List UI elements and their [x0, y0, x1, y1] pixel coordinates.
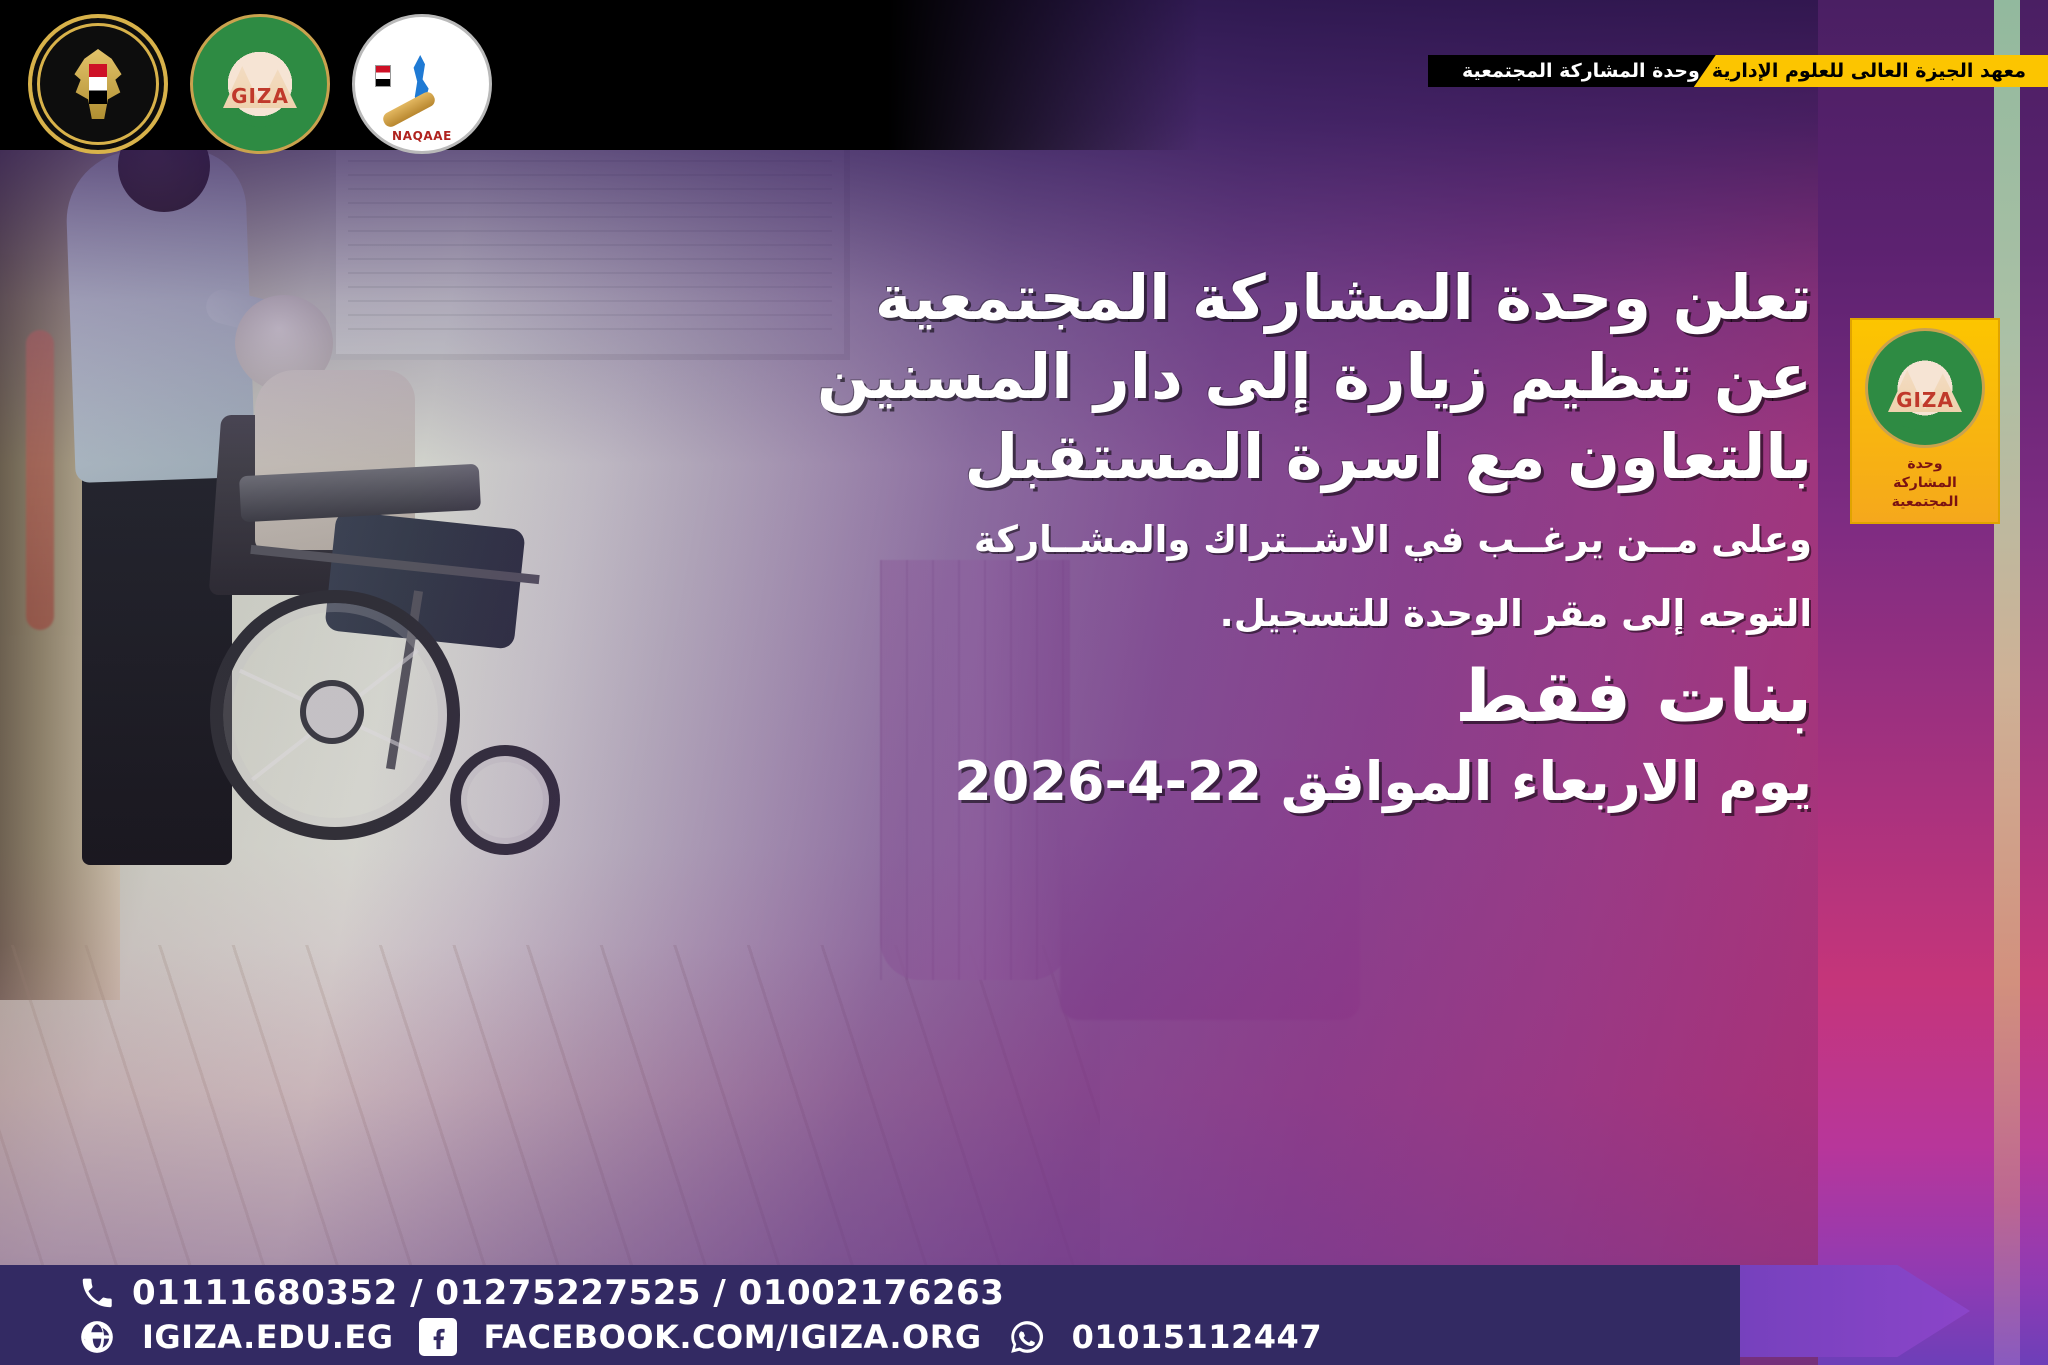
headline-line-3: بالتعاون مع اسرة المستقبل: [582, 417, 1812, 496]
phone-row: 01111680352 / 01275227525 / 01002176263: [0, 1274, 1740, 1312]
phone-numbers[interactable]: 01111680352 / 01275227525 / 01002176263: [132, 1276, 1004, 1310]
ministry-of-higher-education-and-scientific-research-seal: Ministry of Higher Education and Scienti…: [28, 14, 168, 154]
giza-higher-institute-seal: GIZA: [190, 14, 330, 154]
whatsapp-icon: [1008, 1318, 1046, 1356]
community-unit-badge: GIZA وحدة المشاركة المجتمعية: [1850, 318, 2000, 524]
diploma-scroll-icon: [381, 90, 437, 130]
website-link[interactable]: IGIZA.EDU.EG: [142, 1321, 393, 1353]
event-date-label: يوم الاربعاء الموافق 22-4-2026: [582, 747, 1812, 817]
accreditation-logos: Ministry of Higher Education and Scienti…: [28, 14, 492, 154]
open-book-icon: [1902, 418, 1948, 432]
body-line-2: التوجه إلى مقر الوحدة للتسجيل.: [582, 584, 1812, 644]
open-book-icon: [237, 114, 283, 128]
whatsapp-number[interactable]: 01015112447: [1072, 1321, 1322, 1353]
giza-higher-institute-seal: GIZA: [1865, 328, 1985, 448]
links-row: IGIZA.EDU.EG FACEBOOK.COM/IGIZA.ORG 0101…: [0, 1312, 1740, 1356]
phone-icon: [78, 1274, 116, 1312]
poster-canvas: Ministry of Higher Education and Scienti…: [0, 0, 2048, 1365]
badge-caption-line-1: وحدة: [1858, 455, 1992, 474]
institute-name-label: معهد الجيزة العالى للعلوم الإدارية: [1694, 55, 2048, 87]
pyramids-icon: GIZA: [1888, 364, 1962, 412]
body-line-1: وعلى مــن يرغــب في الاشــتراك والمشــار…: [582, 510, 1812, 570]
egypt-flag-icon: [89, 64, 107, 104]
pyramids-icon: GIZA: [223, 60, 297, 108]
facebook-icon[interactable]: [419, 1318, 457, 1356]
naqaae-wordmark: NAQAAE: [355, 130, 489, 142]
contact-bar: 01111680352 / 01275227525 / 01002176263 …: [0, 1265, 1740, 1365]
badge-caption-line-2: المشاركة المجتمعية: [1858, 474, 1992, 512]
facebook-link[interactable]: FACEBOOK.COM/IGIZA.ORG: [483, 1321, 981, 1353]
giza-wordmark: GIZA: [231, 86, 289, 106]
headline-line-1: تعلن وحدة المشاركة المجتمعية: [582, 258, 1812, 337]
giza-wordmark: GIZA: [1896, 390, 1954, 410]
badge-caption: وحدة المشاركة المجتمعية: [1858, 455, 1992, 512]
announcement-copy: تعلن وحدة المشاركة المجتمعية عن تنظيم زي…: [582, 258, 1812, 817]
institute-banner: وحدة المشاركة المجتمعية معهد الجيزة العا…: [1428, 55, 2048, 87]
right-color-band: [1818, 0, 2048, 1365]
egypt-flag-icon: [375, 65, 391, 87]
contact-footer: 01111680352 / 01275227525 / 01002176263 …: [0, 1265, 1740, 1365]
girls-only-label: بنات فقط: [582, 654, 1812, 739]
unit-name-label: وحدة المشاركة المجتمعية: [1428, 55, 1716, 87]
naqaae-seal: NAQAAE: [352, 14, 492, 154]
globe-icon: [78, 1318, 116, 1356]
headline-line-2: عن تنظيم زيارة إلى دار المسنين: [582, 337, 1812, 416]
